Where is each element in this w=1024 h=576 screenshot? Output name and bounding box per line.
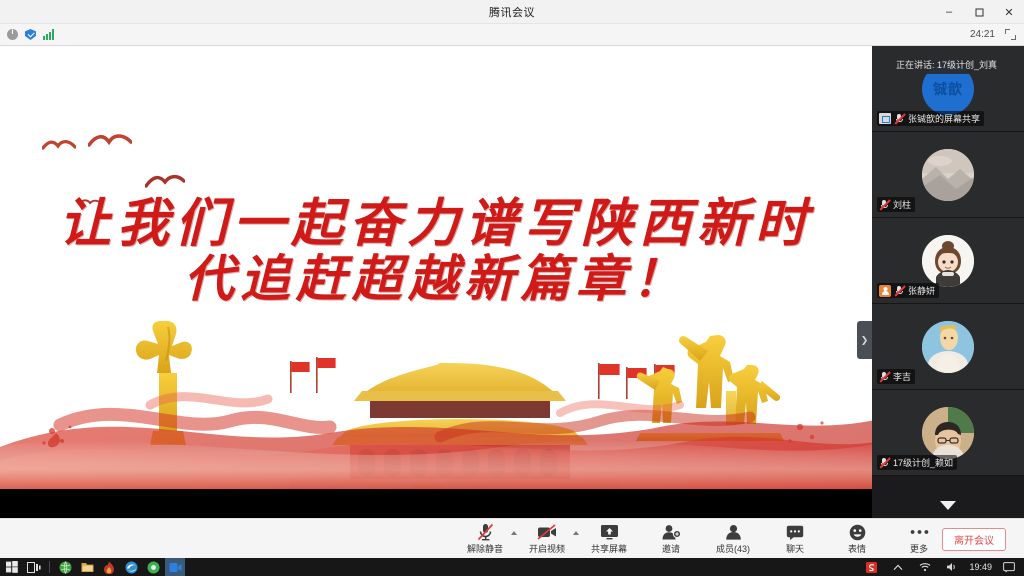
members-button[interactable]: 成员(43)	[702, 519, 764, 559]
windows-taskbar: 19:49	[0, 558, 1024, 576]
controlbar-buttons: 解除静音 开启视频 共享屏幕	[454, 519, 950, 559]
participant-tile[interactable]: 17级计创_赖如	[872, 390, 1024, 476]
participant-nametag: 李吉	[877, 369, 915, 384]
avatar	[922, 407, 974, 459]
more-dots-icon	[910, 523, 929, 541]
taskbar-divider	[49, 561, 50, 573]
unmute-label: 解除静音	[467, 542, 503, 555]
flame-app-icon[interactable]	[99, 558, 119, 576]
members-label: 成员(43)	[716, 542, 750, 555]
task-view-icon[interactable]	[24, 558, 44, 576]
avatar	[922, 149, 974, 201]
participant-rail[interactable]: 正在讲话: 17级计创_刘真 铖歆 张铖歆的屏幕共享	[872, 46, 1024, 518]
meeting-timer-group: 24:21	[970, 29, 1024, 40]
share-screen-icon	[600, 523, 619, 541]
meeting-app-icon[interactable]	[165, 558, 185, 576]
rail-scroll-down-button[interactable]	[872, 495, 1024, 515]
emoji-label: 表情	[848, 542, 866, 555]
maximize-icon	[975, 8, 984, 17]
share-screen-label: 共享屏幕	[591, 542, 627, 555]
illustration-graphic	[0, 301, 872, 489]
participant-name: 刘柱	[893, 198, 911, 211]
browser-globe-icon[interactable]	[55, 558, 75, 576]
avatar-photo-person	[922, 407, 974, 459]
expand-icon[interactable]	[1005, 29, 1016, 40]
members-icon	[725, 523, 742, 541]
emoji-smile-icon	[849, 523, 866, 541]
meeting-stage: 让我们一起奋力谱写陕西新时 代追赶超越新篇章！	[0, 46, 1024, 518]
taskbar-clock[interactable]: 19:49	[969, 562, 992, 572]
microphone-muted-icon	[894, 113, 905, 124]
bird-icon	[42, 138, 76, 154]
chat-label: 聊天	[786, 542, 804, 555]
avatar	[922, 235, 974, 287]
wifi-icon[interactable]	[915, 558, 935, 576]
green-circle-app-icon[interactable]	[143, 558, 163, 576]
invite-label: 邀请	[662, 542, 680, 555]
participant-tile[interactable]: 李吉	[872, 304, 1024, 390]
microphone-muted-icon	[879, 199, 890, 210]
participant-tile[interactable]: 张静妍	[872, 218, 1024, 304]
info-icon[interactable]	[7, 29, 18, 40]
avatar-photo-landscape	[922, 149, 974, 201]
presentation-slide: 让我们一起奋力谱写陕西新时 代追赶超越新篇章！	[0, 46, 872, 489]
start-video-button[interactable]: 开启视频	[516, 519, 578, 559]
camera-off-icon	[537, 523, 557, 541]
speaking-indicator: 正在讲话: 17级计创_刘真	[890, 55, 1003, 74]
host-badge-icon	[879, 285, 891, 297]
edge-browser-icon[interactable]	[121, 558, 141, 576]
participant-name: 张静妍	[908, 284, 935, 297]
maximize-button[interactable]	[964, 0, 994, 24]
notification-icon[interactable]	[999, 558, 1019, 576]
window-title: 腾讯会议	[489, 4, 535, 20]
shared-screen-area[interactable]: 让我们一起奋力谱写陕西新时 代追赶超越新篇章！	[0, 46, 872, 518]
collapse-panel-handle[interactable]: ❯	[857, 321, 872, 359]
microphone-muted-icon	[879, 457, 890, 468]
taskbar-tray: 19:49	[861, 558, 1024, 576]
meeting-infobar: 24:21	[0, 24, 1024, 46]
microphone-muted-icon	[894, 285, 905, 296]
avatar-initials: 铖歆	[933, 79, 963, 99]
window-buttons: – ✕	[934, 0, 1024, 24]
microphone-muted-icon	[477, 523, 494, 541]
more-label: 更多	[910, 542, 928, 555]
taskbar-left	[0, 558, 185, 576]
invite-person-icon	[662, 523, 681, 541]
participant-name: 李吉	[893, 370, 911, 383]
meeting-status-icons	[0, 29, 54, 40]
sogou-input-icon[interactable]	[861, 558, 881, 576]
share-screen-button[interactable]: 共享屏幕	[578, 519, 640, 559]
chat-button[interactable]: 聊天	[764, 519, 826, 559]
participant-nametag: 张铖歆的屏幕共享	[877, 111, 984, 126]
microphone-muted-icon	[879, 371, 890, 382]
avatar-photo-portrait	[922, 321, 974, 373]
close-button[interactable]: ✕	[994, 0, 1024, 24]
chevron-right-icon: ❯	[861, 336, 869, 345]
start-video-label: 开启视频	[529, 542, 565, 555]
window-titlebar: 腾讯会议 – ✕	[0, 0, 1024, 24]
meeting-timer: 24:21	[970, 29, 995, 40]
participant-name: 张铖歆的屏幕共享	[908, 112, 980, 125]
participant-nametag: 张静妍	[877, 283, 939, 298]
slide-headline: 让我们一起奋力谱写陕西新时 代追赶超越新篇章！	[0, 196, 872, 306]
chevron-down-icon	[939, 500, 957, 511]
avatar-photo-cartoon	[922, 235, 974, 287]
shield-icon[interactable]	[25, 29, 36, 40]
unmute-button[interactable]: 解除静音	[454, 519, 516, 559]
screen-share-icon	[879, 113, 891, 124]
slide-headline-line2: 代追赶超越新篇章！	[0, 252, 872, 306]
bird-icon	[78, 198, 102, 206]
participant-tile[interactable]: 刘柱	[872, 132, 1024, 218]
volume-icon[interactable]	[942, 558, 962, 576]
meeting-controlbar: 解除静音 开启视频 共享屏幕	[0, 518, 1024, 558]
bird-icon	[145, 172, 185, 190]
slide-headline-line1: 让我们一起奋力谱写陕西新时	[0, 196, 872, 252]
minimize-button[interactable]: –	[934, 0, 964, 24]
chevron-up-icon[interactable]	[888, 558, 908, 576]
participant-tile[interactable]: 正在讲话: 17级计创_刘真 铖歆 张铖歆的屏幕共享	[872, 46, 1024, 132]
windows-start-icon[interactable]	[2, 558, 22, 576]
avatar	[922, 321, 974, 373]
more-button[interactable]: 更多	[888, 519, 950, 559]
signal-bars-icon[interactable]	[43, 29, 54, 40]
chat-bubble-icon	[786, 523, 804, 541]
participant-nametag: 刘柱	[877, 197, 915, 212]
emoji-button[interactable]: 表情	[826, 519, 888, 559]
slide-letterbox	[0, 489, 872, 518]
bird-icon	[88, 132, 132, 150]
folder-icon[interactable]	[77, 558, 97, 576]
participant-nametag: 17级计创_赖如	[877, 455, 957, 470]
slide-illustration	[0, 301, 872, 489]
invite-button[interactable]: 邀请	[640, 519, 702, 559]
leave-meeting-button[interactable]: 离开会议	[942, 528, 1006, 551]
participant-name: 17级计创_赖如	[893, 456, 953, 469]
